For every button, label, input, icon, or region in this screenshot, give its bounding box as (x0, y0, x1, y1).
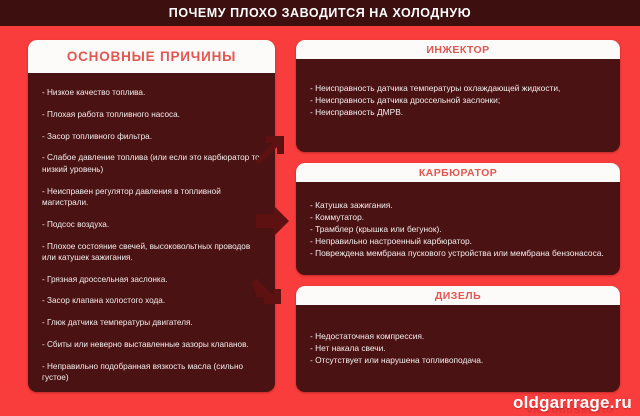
list-item: - Неисправность датчика дроссельной засл… (310, 95, 608, 107)
list-item: - Трамблер (крышка или бегунок). (310, 224, 608, 236)
panel-main-causes-title: ОСНОВНЫЕ ПРИЧИНЫ (67, 49, 236, 64)
list-item: - Засор топливного фильтра. (42, 131, 262, 142)
panel-diesel-body: - Недостаточная компрессия. - Нет накала… (296, 305, 620, 367)
list-item: - Плохое состояние свечей, высоковольтны… (42, 241, 262, 264)
list-item: - Подсос воздуха. (42, 219, 262, 230)
arrow-up-right-icon (249, 131, 289, 171)
list-item: - Коммутатор. (310, 212, 608, 224)
panel-diesel-header: ДИЗЕЛЬ (296, 286, 620, 305)
panel-diesel: ДИЗЕЛЬ - Недостаточная компрессия. - Нет… (296, 286, 620, 392)
list-item: - Плохая работа топливного насоса. (42, 109, 262, 120)
list-item: - Неисправен регулятор давления в топлив… (42, 186, 262, 209)
panel-main-causes-header: ОСНОВНЫЕ ПРИЧИНЫ (28, 40, 275, 73)
list-item: - Нет накала свечи. (310, 343, 608, 355)
infographic-root: ПОЧЕМУ ПЛОХО ЗАВОДИТСЯ НА ХОЛОДНУЮ ОСНОВ… (0, 0, 640, 416)
list-item: - Сбиты или неверно выставленные зазоры … (42, 339, 262, 350)
list-item: - Неисправность датчика температуры охла… (310, 83, 608, 95)
panel-diesel-title: ДИЗЕЛЬ (435, 290, 481, 302)
list-item: - Неисправность ДМРВ. (310, 107, 608, 119)
list-item: - Неправильно подобранная вязкость масла… (42, 361, 262, 384)
list-item: - Повреждена мембрана пускового устройст… (310, 248, 608, 260)
panel-carburetor-header: КАРБЮРАТОР (296, 163, 620, 182)
panel-carburetor-body: - Катушка зажигания. - Коммутатор. - Тра… (296, 182, 620, 260)
arrow-down-right-icon (250, 268, 290, 308)
list-item: - Слабое давление топлива (или если это … (42, 152, 262, 175)
title-bar: ПОЧЕМУ ПЛОХО ЗАВОДИТСЯ НА ХОЛОДНУЮ (0, 0, 640, 26)
list-item: - Глюк датчика температуры двигателя. (42, 317, 262, 328)
list-item: - Засор клапана холостого хода. (42, 295, 262, 306)
list-item: - Низкое качество топлива. (42, 87, 262, 98)
list-item: - Отсутствует или нарушена топливоподача… (310, 355, 608, 367)
arrow-right-icon (252, 201, 292, 241)
page-title: ПОЧЕМУ ПЛОХО ЗАВОДИТСЯ НА ХОЛОДНУЮ (169, 6, 471, 20)
list-item: - Недостаточная компрессия. (310, 331, 608, 343)
panel-main-causes-body: - Низкое качество топлива. - Плохая рабо… (28, 73, 275, 392)
panel-carburetor: КАРБЮРАТОР - Катушка зажигания. - Коммут… (296, 163, 620, 275)
panel-injector-header: ИНЖЕКТОР (296, 40, 620, 59)
panel-carburetor-title: КАРБЮРАТОР (419, 167, 497, 179)
panel-injector-title: ИНЖЕКТОР (426, 44, 489, 56)
panel-injector-body: - Неисправность датчика температуры охла… (296, 59, 620, 119)
list-item: - Неправильно настроенный карбюратор. (310, 236, 608, 248)
watermark-primary: oldgarrrage.ru (513, 393, 632, 413)
panel-injector: ИНЖЕКТОР - Неисправность датчика темпера… (296, 40, 620, 152)
panel-main-causes: ОСНОВНЫЕ ПРИЧИНЫ - Низкое качество топли… (28, 40, 275, 392)
list-item: - Катушка зажигания. (310, 200, 608, 212)
list-item: - Грязная дроссельная заслонка. (42, 274, 262, 285)
